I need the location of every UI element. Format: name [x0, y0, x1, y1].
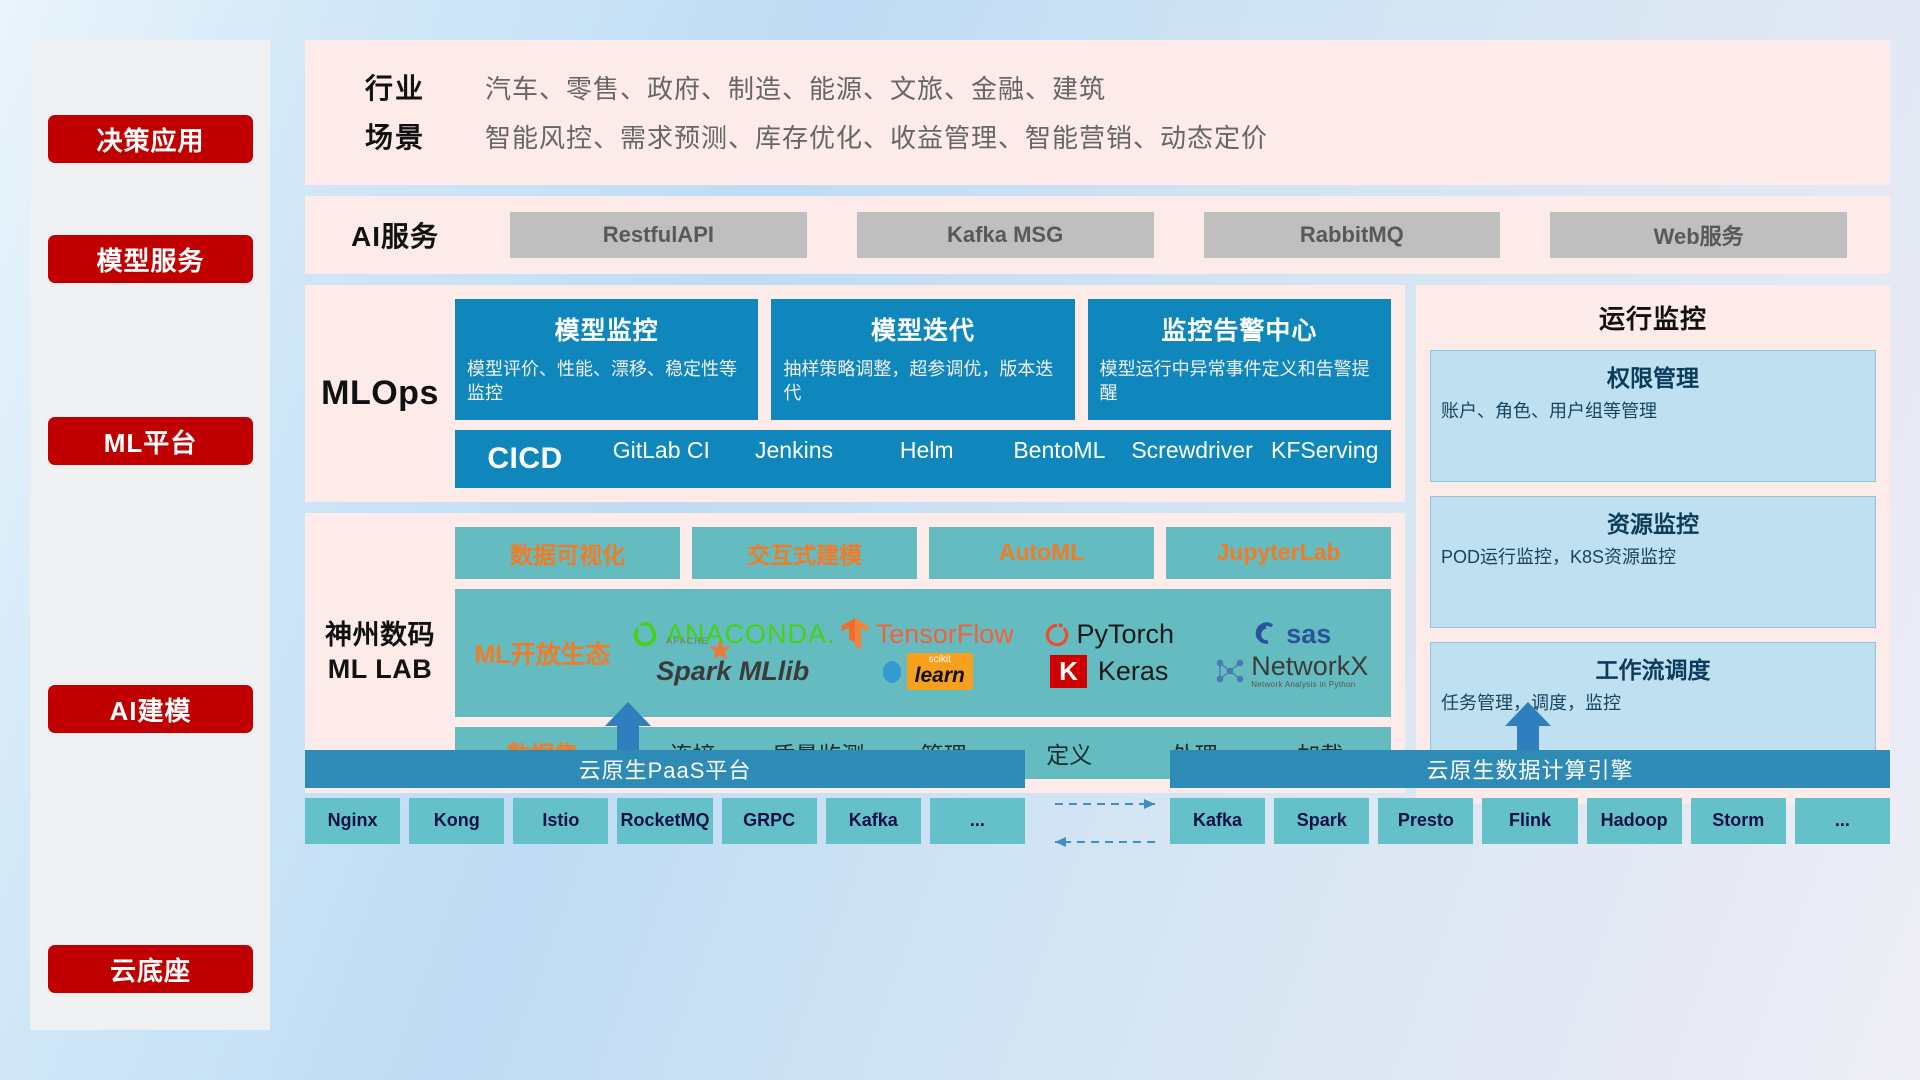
mlops-card-alert-center[interactable]: 监控告警中心 模型运行中异常事件定义和告警提醒	[1088, 299, 1391, 420]
cicd-bar: CICD GitLab CI Jenkins Helm BentoML Scre…	[455, 430, 1391, 488]
paas-group: 云原生PaaS平台 Nginx Kong Istio RocketMQ GRPC…	[305, 750, 1025, 844]
rail-item-cloud-base[interactable]: 云底座	[48, 945, 253, 993]
ai-modeling-label-line1: 神州数码	[325, 619, 435, 653]
cicd-item-screwdriver[interactable]: Screwdriver	[1126, 430, 1259, 465]
monitor-card-resource[interactable]: 资源监控 POD运行监控，K8S资源监控	[1430, 496, 1876, 628]
engine-chip-more[interactable]: ...	[1795, 798, 1890, 844]
platform-row: MLOps 模型监控 模型评价、性能、漂移、稳定性等监控 模型迭代 抽样策略调整…	[305, 285, 1890, 804]
ai-service-chip-restfulapi[interactable]: RestfulAPI	[510, 212, 807, 258]
pytorch-logo-text: PyTorch	[1076, 619, 1174, 650]
scikit-learn-logo-text: learn	[915, 665, 965, 686]
scenario-row: 场景 智能风控、需求预测、库存优化、收益管理、智能营销、动态定价	[305, 116, 1890, 156]
data-engine-chip-list: Kafka Spark Presto Flink Hadoop Storm ..…	[1170, 798, 1890, 844]
tool-chip-jupyterlab[interactable]: JupyterLab	[1166, 527, 1391, 579]
rail-item-ai-modeling[interactable]: AI建模	[48, 685, 253, 733]
tensorflow-logo: TensorFlow	[840, 617, 1014, 651]
card-desc: POD运行监控，K8S资源监控	[1441, 545, 1865, 569]
rail-label: 决策应用	[96, 121, 204, 158]
engine-chip-presto[interactable]: Presto	[1378, 798, 1473, 844]
card-title: 权限管理	[1441, 359, 1865, 393]
rail-label: AI建模	[109, 691, 191, 728]
rail-label: 模型服务	[96, 241, 204, 278]
paas-chip-kafka[interactable]: Kafka	[826, 798, 921, 844]
cicd-item-list: GitLab CI Jenkins Helm BentoML Screwdriv…	[595, 430, 1391, 488]
card-title: 工作流调度	[1441, 651, 1865, 685]
rail-item-ml-platform[interactable]: ML平台	[48, 417, 253, 465]
tensorflow-icon	[840, 617, 870, 651]
spark-mllib-logo-text: Spark MLlib	[656, 656, 809, 687]
pytorch-icon	[1044, 619, 1070, 649]
runtime-monitoring-column: 运行监控 权限管理 账户、角色、用户组等管理 资源监控 POD运行监控，K8S资…	[1416, 285, 1890, 804]
card-title: 资源监控	[1441, 505, 1865, 539]
paas-chip-more[interactable]: ...	[930, 798, 1025, 844]
data-engine-group: 云原生数据计算引擎 Kafka Spark Presto Flink Hadoo…	[1170, 750, 1890, 844]
mlops-label: MLOps	[305, 374, 455, 413]
ai-service-chip-rabbitmq[interactable]: RabbitMQ	[1204, 212, 1501, 258]
card-desc: 账户、角色、用户组等管理	[1441, 399, 1865, 423]
paas-chip-grpc[interactable]: GRPC	[722, 798, 817, 844]
networkx-icon	[1215, 657, 1245, 685]
ai-service-chip-web[interactable]: Web服务	[1550, 212, 1847, 258]
ai-services-label: AI服务	[305, 215, 485, 255]
networkx-logo-text: NetworkX	[1251, 653, 1368, 680]
spark-mllib-logo: APACHE Spark MLlib	[656, 656, 809, 687]
sas-logo-text: sas	[1286, 619, 1331, 650]
ai-service-chip-kafka-msg[interactable]: Kafka MSG	[857, 212, 1154, 258]
ai-services-band: AI服务 RestfulAPI Kafka MSG RabbitMQ Web服务	[305, 196, 1890, 274]
decision-apps-band: 行业 汽车、零售、政府、制造、能源、文旅、金融、建筑 场景 智能风控、需求预测、…	[305, 40, 1890, 185]
modeling-tool-list: 数据可视化 交互式建模 AutoML JupyterLab	[455, 527, 1391, 579]
networkx-subtitle: Network Analysis in Python	[1251, 680, 1368, 689]
tool-chip-automl[interactable]: AutoML	[929, 527, 1154, 579]
spark-star-icon	[708, 638, 732, 662]
mlops-band: MLOps 模型监控 模型评价、性能、漂移、稳定性等监控 模型迭代 抽样策略调整…	[305, 285, 1405, 502]
rail-label: 云底座	[110, 951, 191, 988]
industry-key: 行业	[305, 67, 485, 107]
engine-chip-spark[interactable]: Spark	[1274, 798, 1369, 844]
rail-item-model-service[interactable]: 模型服务	[48, 235, 253, 283]
cicd-item-kfserving[interactable]: KFServing	[1258, 430, 1391, 465]
cicd-item-helm[interactable]: Helm	[860, 430, 993, 465]
paas-chip-nginx[interactable]: Nginx	[305, 798, 400, 844]
cicd-title: CICD	[455, 442, 595, 476]
rail-item-decision-apps[interactable]: 决策应用	[48, 115, 253, 163]
engine-chip-storm[interactable]: Storm	[1691, 798, 1786, 844]
cicd-item-gitlab-ci[interactable]: GitLab CI	[595, 430, 728, 465]
ai-services-chip-list: RestfulAPI Kafka MSG RabbitMQ Web服务	[485, 212, 1890, 258]
left-rail-panel: 决策应用 模型服务 ML平台 AI建模 云底座	[30, 40, 270, 1030]
tool-chip-interactive-modeling[interactable]: 交互式建模	[692, 527, 917, 579]
arrow-up-engine-icon	[1495, 702, 1565, 750]
engine-chip-flink[interactable]: Flink	[1482, 798, 1577, 844]
industry-value: 汽车、零售、政府、制造、能源、文旅、金融、建筑	[485, 69, 1106, 106]
networkx-logo: NetworkX Network Analysis in Python	[1215, 653, 1368, 689]
industry-row: 行业 汽车、零售、政府、制造、能源、文旅、金融、建筑	[305, 67, 1890, 107]
architecture-board: 行业 汽车、零售、政府、制造、能源、文旅、金融、建筑 场景 智能风控、需求预测、…	[305, 40, 1890, 804]
data-engine-header: 云原生数据计算引擎	[1170, 750, 1890, 788]
paas-chip-rocketmq[interactable]: RocketMQ	[617, 798, 712, 844]
engine-chip-hadoop[interactable]: Hadoop	[1587, 798, 1682, 844]
card-desc: 模型运行中异常事件定义和告警提醒	[1100, 357, 1379, 406]
monitor-card-permission[interactable]: 权限管理 账户、角色、用户组等管理	[1430, 350, 1876, 482]
sas-logo: sas	[1252, 619, 1331, 650]
rail-label: ML平台	[104, 423, 198, 460]
scenario-value: 智能风控、需求预测、库存优化、收益管理、智能营销、动态定价	[485, 118, 1268, 155]
ai-modeling-label-line2: ML LAB	[325, 653, 435, 687]
scikit-learn-logo: scikit learn	[881, 653, 973, 690]
ml-ecosystem-row: ML开放生态 ANACONDA.	[455, 589, 1391, 717]
paas-chip-istio[interactable]: Istio	[513, 798, 608, 844]
bidirectional-dashed-connector	[1047, 790, 1167, 860]
mlops-card-model-monitoring[interactable]: 模型监控 模型评价、性能、漂移、稳定性等监控	[455, 299, 758, 420]
pytorch-logo: PyTorch	[1044, 619, 1174, 650]
paas-header: 云原生PaaS平台	[305, 750, 1025, 788]
cicd-item-jenkins[interactable]: Jenkins	[728, 430, 861, 465]
card-desc: 抽样策略调整，超参调优，版本迭代	[783, 357, 1062, 406]
keras-logo: K Keras	[1050, 655, 1168, 688]
paas-chip-list: Nginx Kong Istio RocketMQ GRPC Kafka ...	[305, 798, 1025, 844]
mlops-card-list: 模型监控 模型评价、性能、漂移、稳定性等监控 模型迭代 抽样策略调整，超参调优，…	[455, 299, 1391, 420]
tool-chip-data-visualization[interactable]: 数据可视化	[455, 527, 680, 579]
cicd-item-bentoml[interactable]: BentoML	[993, 430, 1126, 465]
paas-chip-kong[interactable]: Kong	[409, 798, 504, 844]
card-title: 模型监控	[467, 311, 746, 347]
ml-ecosystem-label: ML开放生态	[455, 635, 630, 671]
engine-chip-kafka[interactable]: Kafka	[1170, 798, 1265, 844]
anaconda-icon	[630, 619, 660, 649]
cloud-base-section: 云原生PaaS平台 Nginx Kong Istio RocketMQ GRPC…	[305, 730, 1890, 1030]
arrow-up-paas-icon	[595, 702, 665, 750]
tensorflow-logo-text: TensorFlow	[876, 619, 1014, 650]
spark-apache-superscript: APACHE	[666, 636, 708, 646]
scenario-key: 场景	[305, 116, 485, 156]
mlops-card-model-iteration[interactable]: 模型迭代 抽样策略调整，超参调优，版本迭代	[771, 299, 1074, 420]
runtime-monitoring-title: 运行监控	[1430, 299, 1876, 336]
ai-modeling-label: 神州数码 ML LAB	[305, 619, 455, 687]
ml-ecosystem-logo-grid: ANACONDA. TensorFlow	[630, 616, 1391, 690]
card-desc: 模型评价、性能、漂移、稳定性等监控	[467, 357, 746, 406]
sas-icon	[1252, 620, 1280, 648]
keras-logo-text: Keras	[1098, 656, 1169, 687]
card-title: 监控告警中心	[1100, 311, 1379, 347]
anaconda-logo: ANACONDA.	[630, 619, 836, 650]
card-title: 模型迭代	[783, 311, 1062, 347]
